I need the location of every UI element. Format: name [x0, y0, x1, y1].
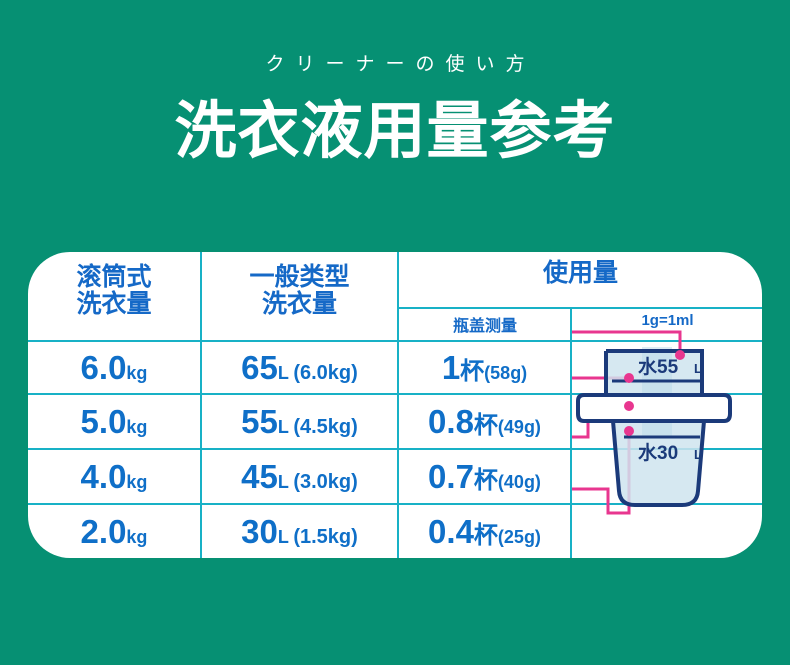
dose-value: 1 — [442, 349, 460, 386]
table-row: 30L (1.5kg) — [202, 513, 397, 551]
column-header-usage: 使用量 — [399, 260, 762, 287]
drum-unit: kg — [126, 417, 147, 437]
general-unit: L — [278, 417, 289, 437]
general-paren: (6.0kg) — [293, 362, 357, 384]
drum-unit: kg — [126, 363, 147, 383]
column-header-general-line1: 一般类型 — [202, 264, 397, 291]
table-row: 55L (4.5kg) — [202, 403, 397, 441]
dose-paren: (49g) — [498, 417, 541, 437]
table-row: 0.7杯(40g) — [399, 458, 570, 496]
dose-unit: 杯 — [474, 467, 498, 494]
dose-value: 0.4 — [428, 513, 474, 550]
page-title: 洗衣液用量参考 — [0, 99, 790, 164]
dosage-table-card: 滚筒式 洗衣量 一般类型 洗衣量 使用量 瓶盖测量 1g=1ml 6.0kg 6… — [28, 252, 762, 558]
general-unit: L — [278, 363, 289, 383]
general-paren: (4.5kg) — [293, 416, 357, 438]
column-header-drum-line1: 滚筒式 — [28, 264, 200, 291]
table-row: 4.0kg — [28, 458, 200, 496]
general-paren: (1.5kg) — [293, 526, 357, 548]
general-value: 55 — [241, 403, 278, 440]
measuring-cap-diagram: 水55 L 水30 L — [572, 309, 762, 558]
drum-unit: kg — [126, 472, 147, 492]
level-label-upper-unit: L — [694, 361, 702, 376]
dose-unit: 杯 — [460, 358, 484, 385]
table-row: 45L (3.0kg) — [202, 458, 397, 496]
drum-value: 2.0 — [81, 513, 127, 550]
drum-value: 4.0 — [81, 458, 127, 495]
dose-paren: (25g) — [498, 527, 541, 547]
dose-paren: (40g) — [498, 472, 541, 492]
general-value: 65 — [241, 349, 278, 386]
drum-value: 6.0 — [81, 349, 127, 386]
drum-value: 5.0 — [81, 403, 127, 440]
level-label-lower-unit: L — [694, 447, 702, 462]
general-unit: L — [278, 527, 289, 547]
dose-value: 0.8 — [428, 403, 474, 440]
column-header-general-line2: 洗衣量 — [202, 291, 397, 318]
dose-unit: 杯 — [474, 522, 498, 549]
general-unit: L — [278, 472, 289, 492]
general-paren: (3.0kg) — [293, 471, 357, 493]
table-row: 6.0kg — [28, 349, 200, 387]
table-row: 65L (6.0kg) — [202, 349, 397, 387]
dose-paren: (58g) — [484, 363, 527, 383]
table-row: 0.4杯(25g) — [399, 513, 570, 551]
column-header-drum-line2: 洗衣量 — [28, 291, 200, 318]
table-row: 0.8杯(49g) — [399, 403, 570, 441]
drum-unit: kg — [126, 527, 147, 547]
table-row: 1杯(58g) — [399, 349, 570, 387]
level-label-upper: 水55 — [638, 356, 679, 378]
level-label-lower: 水30 — [638, 442, 678, 464]
subheader-cap-measure: 瓶盖测量 — [399, 312, 571, 336]
general-value: 45 — [241, 458, 278, 495]
dose-unit: 杯 — [474, 412, 498, 439]
column-header-general: 一般类型 洗衣量 — [202, 264, 397, 317]
column-header-drum: 滚筒式 洗衣量 — [28, 264, 200, 317]
dose-value: 0.7 — [428, 458, 474, 495]
poster-root: クリーナーの使い方 洗衣液用量参考 滚筒式 洗衣量 一般类型 洗衣量 使用量 瓶… — [0, 0, 790, 665]
table-row: 2.0kg — [28, 513, 200, 551]
subtitle: クリーナーの使い方 — [0, 55, 790, 74]
table-row: 5.0kg — [28, 403, 200, 441]
general-value: 30 — [241, 513, 278, 550]
